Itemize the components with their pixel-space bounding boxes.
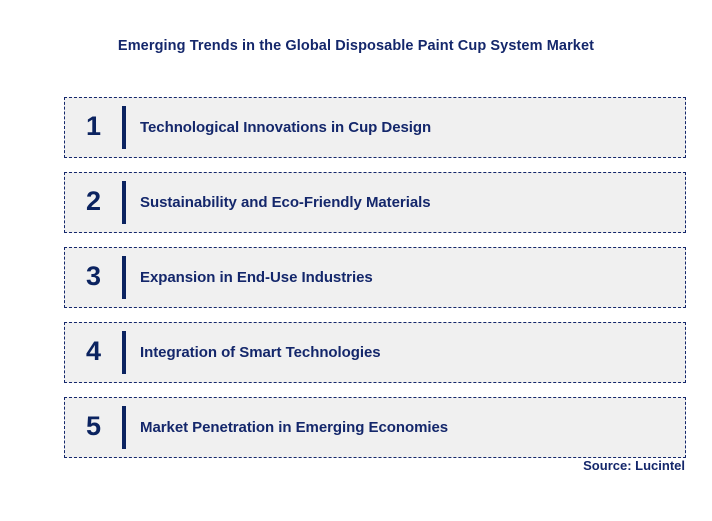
trend-label: Integration of Smart Technologies [126,344,685,361]
trend-rank-number: 5 [65,413,122,442]
list-item: 4 Integration of Smart Technologies [64,322,686,383]
list-item: 5 Market Penetration in Emerging Economi… [64,397,686,458]
trend-label: Market Penetration in Emerging Economies [126,419,685,436]
trend-label: Technological Innovations in Cup Design [126,119,685,136]
trend-rank-number: 2 [65,188,122,217]
trend-label: Sustainability and Eco-Friendly Material… [126,194,685,211]
trend-list: 1 Technological Innovations in Cup Desig… [64,97,686,472]
trend-rank-number: 4 [65,338,122,367]
trend-rank-number: 3 [65,263,122,292]
list-item: 1 Technological Innovations in Cup Desig… [64,97,686,158]
trend-label: Expansion in End-Use Industries [126,269,685,286]
source-attribution: Source: Lucintel [583,458,685,473]
list-item: 3 Expansion in End-Use Industries [64,247,686,308]
list-item: 2 Sustainability and Eco-Friendly Materi… [64,172,686,233]
page-title: Emerging Trends in the Global Disposable… [0,38,712,54]
emerging-trends-infographic: Emerging Trends in the Global Disposable… [0,0,712,521]
trend-rank-number: 1 [65,113,122,142]
